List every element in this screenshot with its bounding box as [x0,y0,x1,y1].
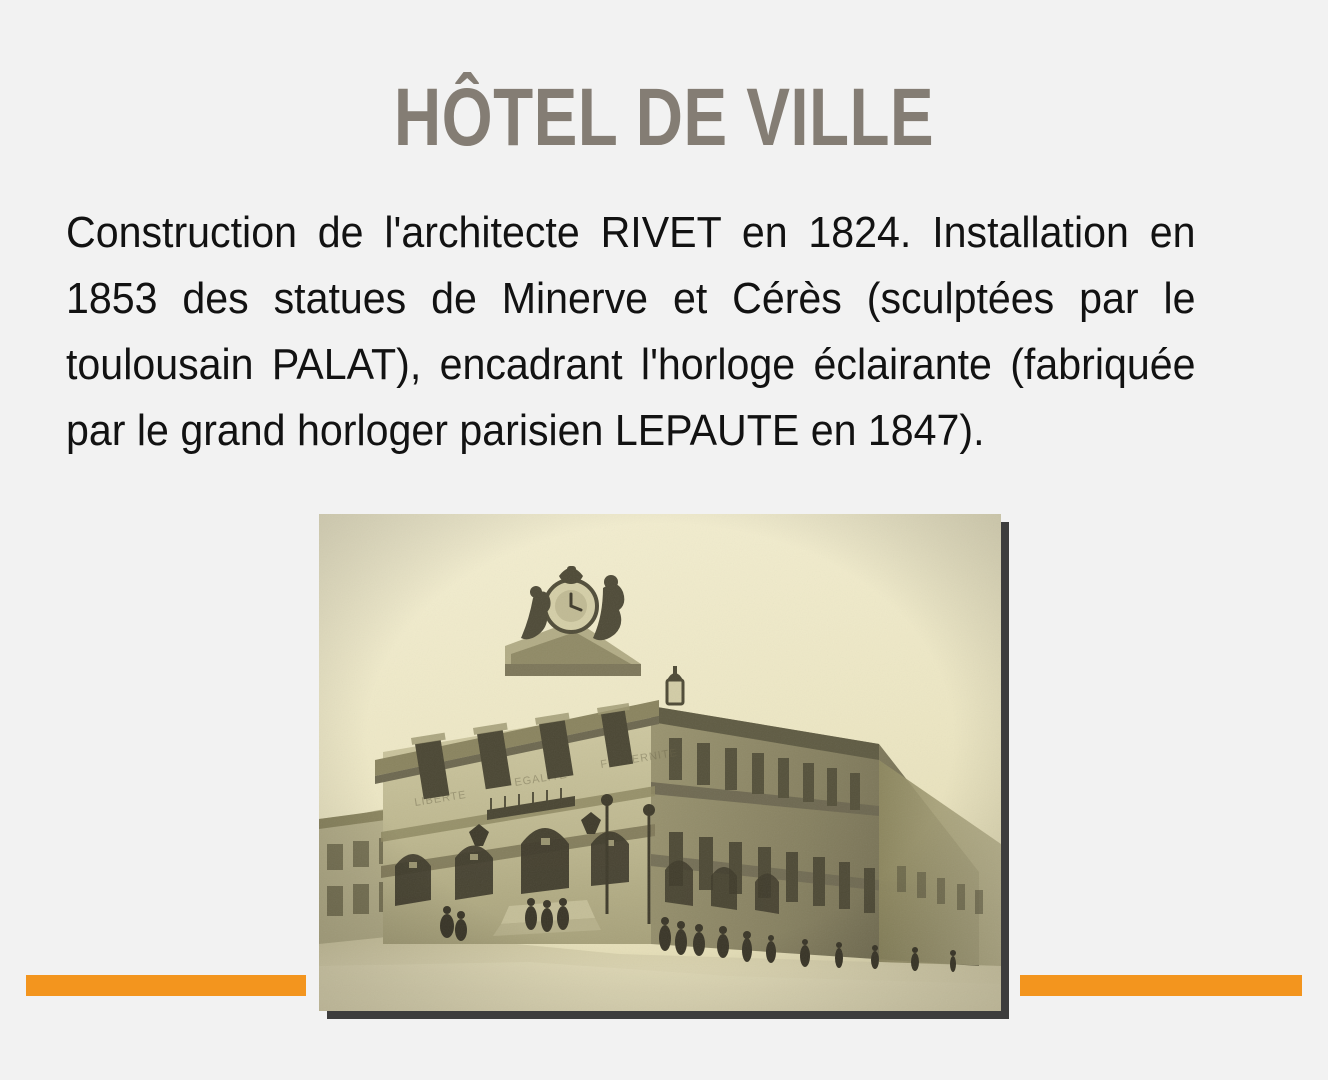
hotel-de-ville-photo: LIBERTE EGALITE FRATERNITE [319,514,1001,1011]
slide: HÔTEL DE VILLE Construction de l'archite… [0,0,1328,1080]
photo-figure: LIBERTE EGALITE FRATERNITE [319,514,1001,1011]
body-block: Construction de l'architecte RIVET en 18… [66,200,1274,464]
accent-rule-right [1020,975,1302,996]
accent-rule-left [26,975,306,996]
body-paragraph: Construction de l'architecte RIVET en 18… [66,200,1195,464]
page-title: HÔTEL DE VILLE [133,72,1195,164]
